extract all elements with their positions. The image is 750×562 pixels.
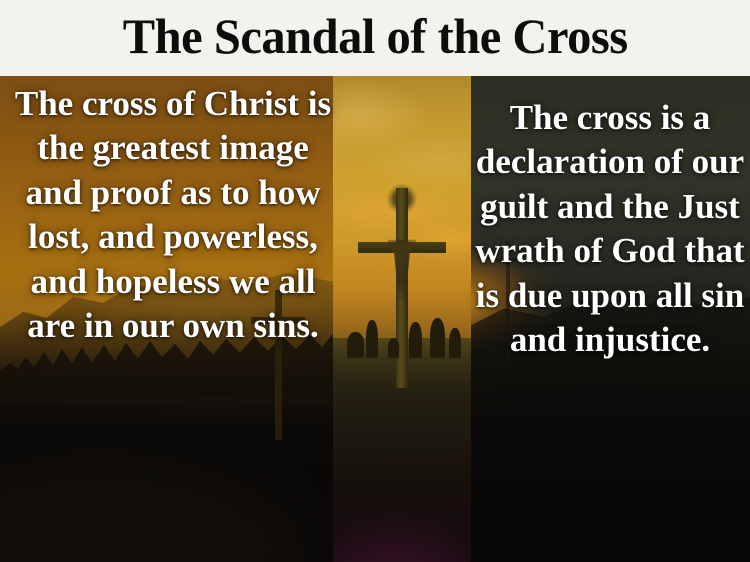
presentation-slide: The Scandal of the Cross xyxy=(0,0,750,562)
mourner-figure xyxy=(347,332,364,358)
page-title: The Scandal of the Cross xyxy=(123,11,628,65)
mourner-figure xyxy=(409,322,422,358)
right-quote-text: The cross is a declaration of our guilt … xyxy=(474,96,746,363)
mourner-figure xyxy=(449,328,461,358)
mourner-figure xyxy=(388,338,399,358)
mourner-figure xyxy=(430,318,445,358)
crucifixion-image-panel xyxy=(333,76,471,562)
left-quote-text: The cross of Christ is the greatest imag… xyxy=(14,82,332,349)
mourner-figure xyxy=(366,320,378,358)
title-band: The Scandal of the Cross xyxy=(0,0,750,76)
mourner-figures xyxy=(333,298,471,358)
